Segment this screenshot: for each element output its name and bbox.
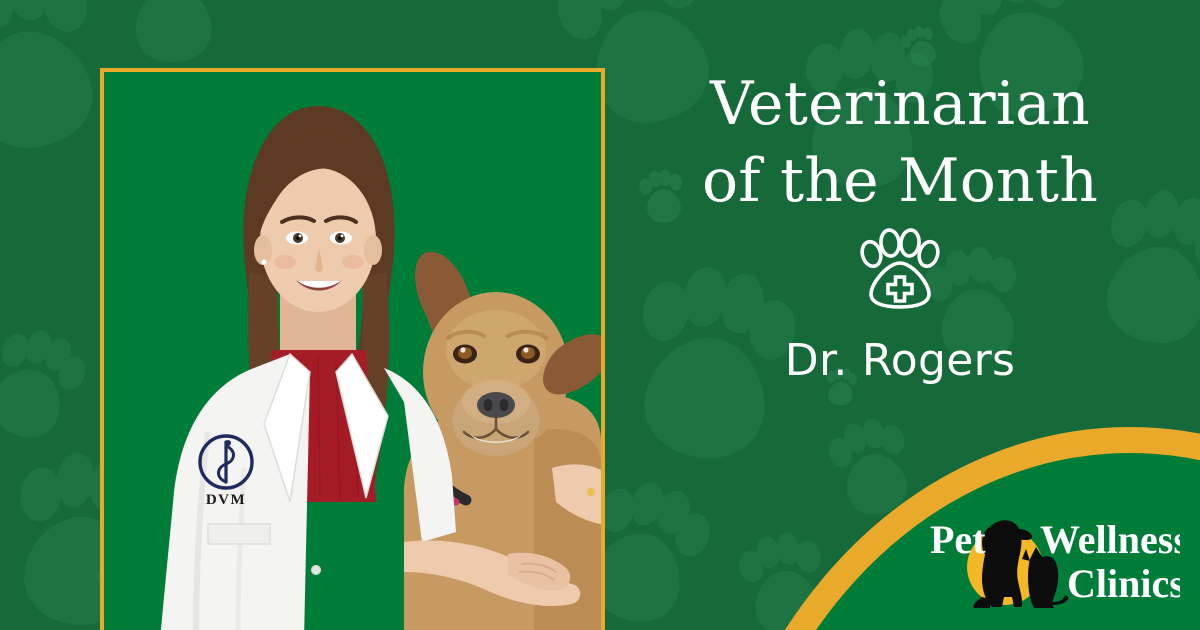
page-title: Veterinarian of the Month (620, 66, 1180, 220)
paw-with-medical-cross-icon (620, 228, 1180, 310)
logo-word-pet: Pet (930, 517, 986, 562)
brand-logo[interactable]: Pet Wellness Clinics (930, 505, 1180, 620)
logo-word-clinics: Clinics (1067, 561, 1180, 606)
logo-word-wellness: Wellness (1040, 517, 1180, 562)
vet-photo-frame: DVM (100, 68, 605, 630)
veterinarian-name: Dr. Rogers (620, 335, 1180, 386)
poster-canvas: DVM Veterinarian of the Month (0, 0, 1200, 630)
svg-text:DVM: DVM (206, 492, 246, 508)
